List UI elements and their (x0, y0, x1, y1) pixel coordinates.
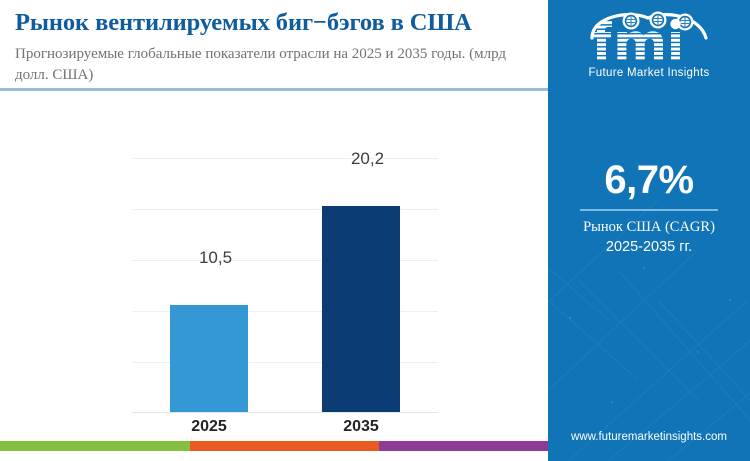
cagr-label: Рынок США (CAGR) (548, 218, 750, 237)
bar-chart: 10,5 20,2 2025 2035 (0, 96, 548, 448)
bar-2035[interactable] (322, 206, 400, 412)
strip-segment-purple (379, 441, 548, 451)
page-title: Рынок вентилируемых биг−бэгов в США (15, 8, 535, 38)
axis-baseline (132, 412, 438, 413)
header-divider (0, 88, 548, 91)
cagr-value: 6,7% (548, 158, 750, 203)
bar-value-2035: 20,2 (284, 149, 451, 169)
content-pane: Рынок вентилируемых биг−бэгов в США Прог… (0, 0, 548, 451)
fmi-logo[interactable]: Future Market Insights (548, 8, 750, 79)
fmi-tagline: Future Market Insights (548, 67, 750, 79)
stat-divider (580, 209, 718, 211)
bottom-color-strip (0, 441, 548, 451)
brand-panel: Future Market Insights 6,7% Рынок США (C… (548, 0, 750, 461)
strip-segment-orange (190, 441, 379, 451)
infographic-root: Рынок вентилируемых биг−бэгов в США Прог… (0, 0, 750, 461)
category-label-2025: 2025 (132, 418, 286, 436)
category-label-2035: 2035 (284, 418, 438, 436)
bar-value-2025: 10,5 (132, 248, 299, 268)
strip-segment-green (0, 441, 190, 451)
website-url[interactable]: www.futuremarketinsights.com (548, 431, 750, 443)
i-dot-icon (670, 19, 680, 29)
plot-area (132, 158, 438, 413)
page-subtitle: Прогнозируемые глобальные показатели отр… (15, 44, 535, 86)
bar-2025[interactable] (170, 305, 248, 412)
cagr-period: 2025-2035 гг. (548, 238, 750, 257)
fmi-logomark-icon (574, 8, 724, 66)
